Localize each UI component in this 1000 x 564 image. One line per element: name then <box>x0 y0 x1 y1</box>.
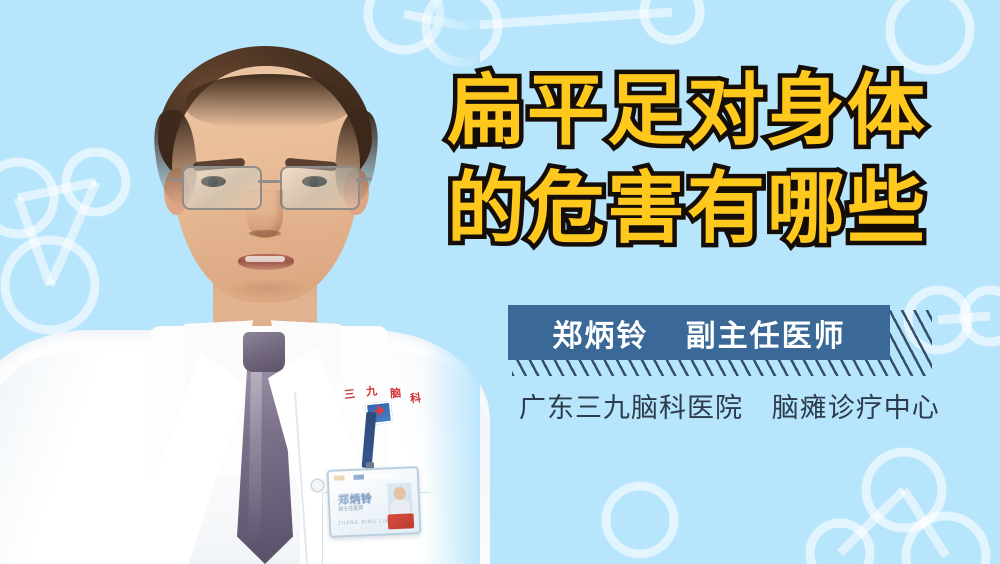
badge-header-stripe <box>334 473 392 481</box>
hair-fringe <box>186 74 350 128</box>
embroidery-char-4: 科 <box>409 389 422 406</box>
lab-coat-button <box>312 480 323 491</box>
embroidery-char-2: 九 <box>365 382 378 399</box>
badge-photo <box>387 482 412 513</box>
badge-subtitle-text: 副主任医师 <box>338 504 363 512</box>
id-badge: 郑炳铃 副主任医师 ZHENG BING LING <box>327 466 422 538</box>
necktie-knot <box>243 332 285 372</box>
badge-photo-head <box>393 487 406 501</box>
presenter-name-text: 郑炳铃 副主任医师 <box>552 311 845 355</box>
doctor-portrait: 三 九 脑 科 郑炳铃 副主任医师 ZHENG BING LING <box>0 0 470 564</box>
video-thumbnail: 三 九 脑 科 郑炳铃 副主任医师 ZHENG BING LING <box>0 0 1000 564</box>
headline-title: 扁平足对身体 的危害有哪些 <box>447 62 992 258</box>
embroidery-char-1: 三 <box>343 385 356 402</box>
teeth <box>245 256 285 262</box>
badge-red-stamp <box>388 513 415 529</box>
headline-line-1: 扁平足对身体 <box>447 62 992 160</box>
embroidery-char-3: 脑 <box>389 384 402 401</box>
presenter-name-banner: 郑炳铃 副主任医师 <box>508 305 890 360</box>
eyeglass-bridge <box>258 180 280 183</box>
badge-photo-body <box>390 499 411 513</box>
presenter-affiliation-text: 广东三九脑科医院 脑瘫诊疗中心 <box>519 386 940 425</box>
eyeglass-temple-left <box>168 177 184 182</box>
headline-line-2: 的危害有哪些 <box>447 160 992 258</box>
badge-pinyin-text: ZHENG BING LING <box>338 519 394 526</box>
coat-embroidery: 三 九 脑 科 <box>344 386 430 432</box>
eyeglass-lens-right <box>280 166 360 210</box>
nostrils <box>249 230 281 237</box>
chin-shadow <box>226 278 308 298</box>
